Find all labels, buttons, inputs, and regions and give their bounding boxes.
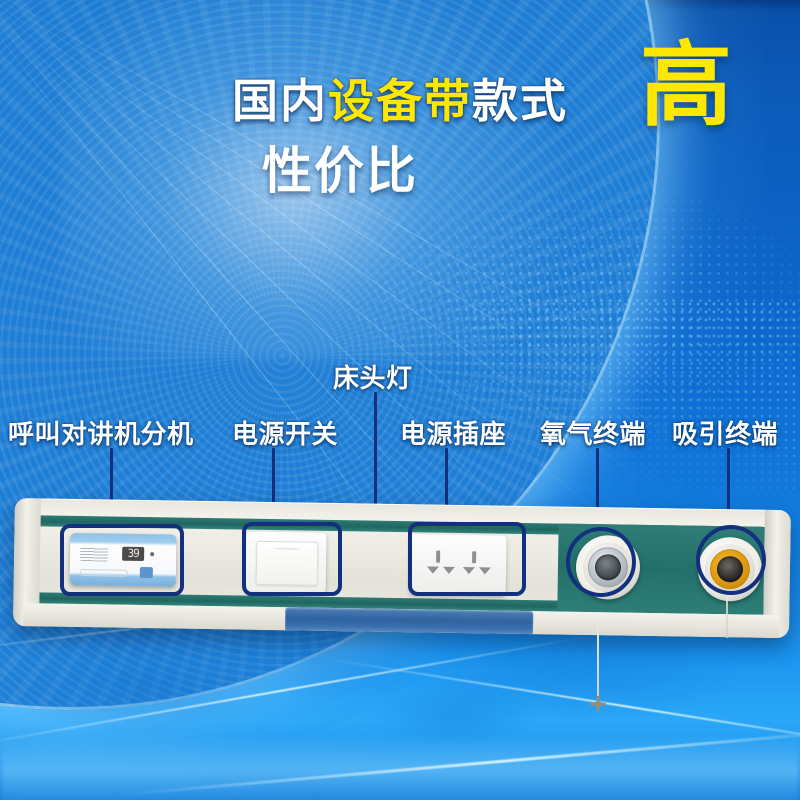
label-power-socket: 电源插座 [400,414,506,451]
callout-box-intercom [60,524,184,596]
callout-box-power-switch [242,522,342,596]
callout-circle-oxygen [566,527,636,597]
label-intercom: 呼叫对讲机分机 [8,414,194,451]
callout-labels: 呼叫对讲机分机 电源开关 床头灯 电源插座 氧气终端 吸引终端 [0,0,800,800]
pull-cord-secondary[interactable] [726,594,728,638]
callout-box-power-socket [408,522,526,596]
pull-cord[interactable] [597,620,599,698]
label-oxygen-terminal: 氧气终端 [540,414,646,451]
promo-poster: 国内设备带款式 性价比 高 呼叫对讲机分机 电源开关 床头灯 电源插座 氧气终端… [0,0,800,800]
label-suction-terminal: 吸引终端 [672,414,778,451]
label-power-switch: 电源开关 [232,414,338,451]
callout-circle-suction [696,525,766,595]
bed-lamp-diffuser[interactable] [285,607,533,635]
label-bed-lamp: 床头灯 [333,358,413,395]
